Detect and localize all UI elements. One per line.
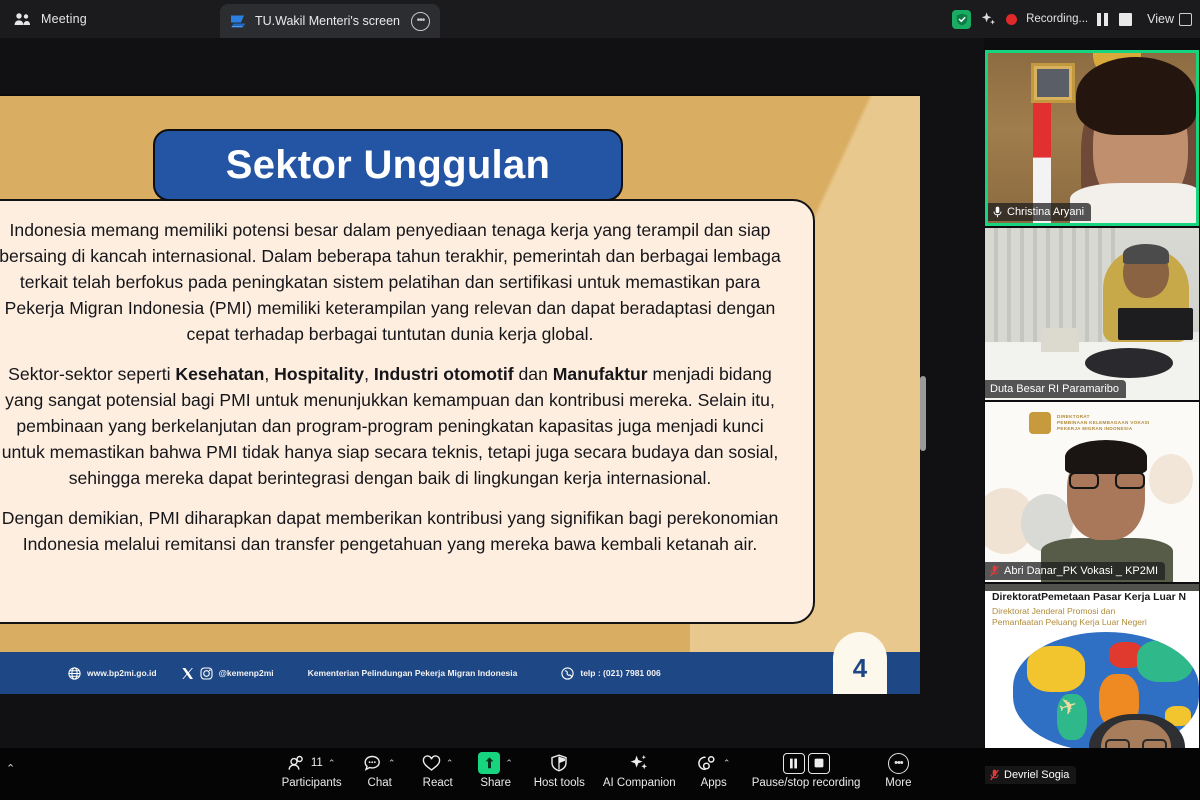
recording-cloud-icon <box>1006 14 1017 25</box>
direktorat-logo: DIREKTORATPEMBINAAN KELEMBAGAAN VOKASIPE… <box>1029 412 1150 434</box>
paper-sheet <box>1041 328 1079 352</box>
shared-screen-stage[interactable]: Sektor Unggulan Indonesia memang memilik… <box>0 38 984 748</box>
slide-paragraph-3: Dengan demikian, PMI diharapkan dapat me… <box>0 505 787 557</box>
mic-muted-icon <box>990 769 999 781</box>
pause-icon[interactable] <box>1097 13 1110 26</box>
shared-slide-subheading: Direktorat Jenderal Promosi danPemanfaat… <box>992 606 1147 628</box>
continent-north-america <box>1027 646 1085 692</box>
participant-hair <box>1065 440 1147 474</box>
toolbar-ai-companion-button[interactable]: AI Companion <box>594 748 685 791</box>
footer-ministry-label: Kementerian Pelindungan Pekerja Migran I… <box>308 668 518 678</box>
shared-screen-tab-label: TU.Wakil Menteri's screen <box>255 14 400 28</box>
participant-video-strip: Christina Aryani Duta Besar RI Paramarib… <box>984 38 1200 748</box>
toolbar-chat-button[interactable]: ⌃ Chat <box>351 748 409 791</box>
tile-top-strip <box>985 584 1199 591</box>
eyeglasses <box>1069 472 1145 489</box>
wall-portrait <box>1031 63 1075 103</box>
shield-check-icon[interactable] <box>952 10 971 29</box>
participant-name: Abri Danar_PK Vokasi _ KP2MI <box>1004 565 1158 577</box>
chevron-up-icon[interactable]: ⌃ <box>722 758 731 769</box>
phone-icon <box>561 667 574 680</box>
heart-icon <box>422 755 441 772</box>
participant-name-badge: Abri Danar_PK Vokasi _ KP2MI <box>985 562 1165 580</box>
participant-tile-duta-besar-ri-paramaribo[interactable]: Duta Besar RI Paramaribo <box>985 228 1199 400</box>
mic-on-icon <box>993 206 1002 218</box>
shared-slide-heading: DirektoratPemetaan Pasar Kerja Luar N <box>992 592 1186 603</box>
pause-recording-icon[interactable] <box>783 753 805 774</box>
ai-sparkle-icon <box>629 754 649 772</box>
zoom-meeting-window: Meeting TU.Wakil Menteri's screen ••• Re… <box>0 0 1200 800</box>
toolbar-participants-button[interactable]: 11 ⌃ Participants <box>273 748 351 791</box>
meeting-tab[interactable]: Meeting <box>0 0 218 38</box>
toolbar-host-tools-button[interactable]: Host tools <box>525 748 594 791</box>
toolbar-more-label: More <box>885 777 911 789</box>
share-screen-icon <box>478 752 500 774</box>
toolbar-share-label: Share <box>480 777 511 789</box>
more-dots-icon: ••• <box>888 753 909 774</box>
x-twitter-icon <box>181 667 194 680</box>
slide-footer-bar: www.bp2mi.go.id @kemenp2mi Kementerian P… <box>0 652 920 694</box>
toolbar-apps-button[interactable]: ⌃ Apps <box>685 748 743 791</box>
stop-icon[interactable] <box>1119 13 1132 26</box>
footer-social: @kemenp2mi <box>181 667 274 680</box>
footer-website: www.bp2mi.go.id <box>68 667 157 680</box>
participant-hair <box>1076 57 1196 135</box>
direktorat-logo-text: DIREKTORATPEMBINAAN KELEMBAGAAN VOKASIPE… <box>1057 414 1150 432</box>
footer-phone-label: telp : (021) 7981 006 <box>580 668 660 678</box>
people-group-icon <box>14 12 31 27</box>
decor-shape <box>1149 454 1193 504</box>
slide-title-banner: Sektor Unggulan <box>153 129 623 201</box>
chat-bubble-icon <box>364 755 383 772</box>
view-button[interactable]: View <box>1141 12 1192 26</box>
toolbar-share-button[interactable]: ⌃ Share <box>467 748 525 791</box>
screen-share-icon <box>230 14 247 29</box>
toolbar-participants-label: Participants <box>282 777 342 789</box>
slide-page-number: 4 <box>853 653 867 684</box>
toolbar-chat-label: Chat <box>368 777 392 789</box>
chevron-up-icon[interactable]: ⌃ <box>6 762 15 775</box>
stage-scrollbar-thumb[interactable] <box>920 376 926 451</box>
participant-tile-abri-danar[interactable]: DIREKTORATPEMBINAAN KELEMBAGAAN VOKASIPE… <box>985 402 1199 582</box>
stage-scrollbar[interactable] <box>920 94 928 694</box>
chevron-up-icon[interactable]: ⌃ <box>504 758 513 769</box>
toolbar-more-button[interactable]: ••• More <box>869 748 927 791</box>
more-options-icon[interactable]: ••• <box>411 12 430 31</box>
participant-name: Duta Besar RI Paramaribo <box>990 383 1119 395</box>
view-button-label: View <box>1147 12 1174 26</box>
shared-screen-tab[interactable]: TU.Wakil Menteri's screen ••• <box>220 4 440 38</box>
mic-muted-icon <box>990 565 999 577</box>
toolbar-react-button[interactable]: ⌃ React <box>409 748 467 791</box>
chevron-up-icon[interactable]: ⌃ <box>327 758 336 769</box>
slide-text-card: Indonesia memang memiliki potensi besar … <box>0 199 815 624</box>
presentation-slide: Sektor Unggulan Indonesia memang memilik… <box>0 94 920 694</box>
slide-paragraph-2: Sektor-sektor seperti Kesehatan, Hospita… <box>0 361 787 491</box>
continent-asia <box>1137 640 1193 682</box>
chevron-up-icon[interactable]: ⌃ <box>387 758 396 769</box>
participants-count: 11 <box>311 757 323 769</box>
toolbar-controls: 11 ⌃ Participants ⌃ Chat <box>273 748 928 800</box>
shield-icon <box>550 754 568 772</box>
participant-name-badge: Christina Aryani <box>988 203 1091 221</box>
toolbar-react-label: React <box>423 777 453 789</box>
participant-name: Christina Aryani <box>1007 206 1084 218</box>
laptop <box>1118 308 1193 340</box>
top-bar-right-controls: Recording... View <box>952 0 1200 38</box>
ai-sparkle-icon[interactable] <box>980 11 997 28</box>
globe-icon <box>68 667 81 680</box>
stop-recording-icon[interactable] <box>808 753 830 774</box>
slide-paragraph-1: Indonesia memang memiliki potensi besar … <box>0 217 787 347</box>
participant-name-badge: Duta Besar RI Paramaribo <box>985 380 1126 398</box>
participant-hair <box>1123 244 1169 264</box>
conference-speakerphone <box>1085 348 1173 378</box>
direktorat-logo-mark <box>1029 412 1051 434</box>
participant-name: Devriel Sogia <box>1004 769 1069 781</box>
apps-icon <box>697 755 718 772</box>
page-title: Sektor Unggulan <box>226 143 551 188</box>
slide-page-number-badge: 4 <box>833 632 887 694</box>
meeting-tab-label: Meeting <box>41 12 87 26</box>
layout-grid-icon <box>1179 13 1192 26</box>
participants-icon <box>288 755 307 771</box>
toolbar-pause-stop-recording-button[interactable]: Pause/stop recording <box>743 748 870 791</box>
footer-social-handle: @kemenp2mi <box>219 668 274 678</box>
toolbar-host-tools-label: Host tools <box>534 777 585 789</box>
toolbar-apps-label: Apps <box>701 777 727 789</box>
participant-tile-christina-aryani[interactable]: Christina Aryani <box>985 50 1199 226</box>
footer-ministry: Kementerian Pelindungan Pekerja Migran I… <box>308 668 518 678</box>
instagram-icon <box>200 667 213 680</box>
top-bar: Meeting TU.Wakil Menteri's screen ••• Re… <box>0 0 1200 38</box>
participant-name-badge: Devriel Sogia <box>985 766 1076 784</box>
toolbar-ai-companion-label: AI Companion <box>603 777 676 789</box>
footer-phone: telp : (021) 7981 006 <box>561 667 660 680</box>
recording-status-label: Recording... <box>1026 13 1088 25</box>
footer-website-label: www.bp2mi.go.id <box>87 668 157 678</box>
chevron-up-icon[interactable]: ⌃ <box>445 758 454 769</box>
toolbar-pause-stop-recording-label: Pause/stop recording <box>752 777 861 789</box>
